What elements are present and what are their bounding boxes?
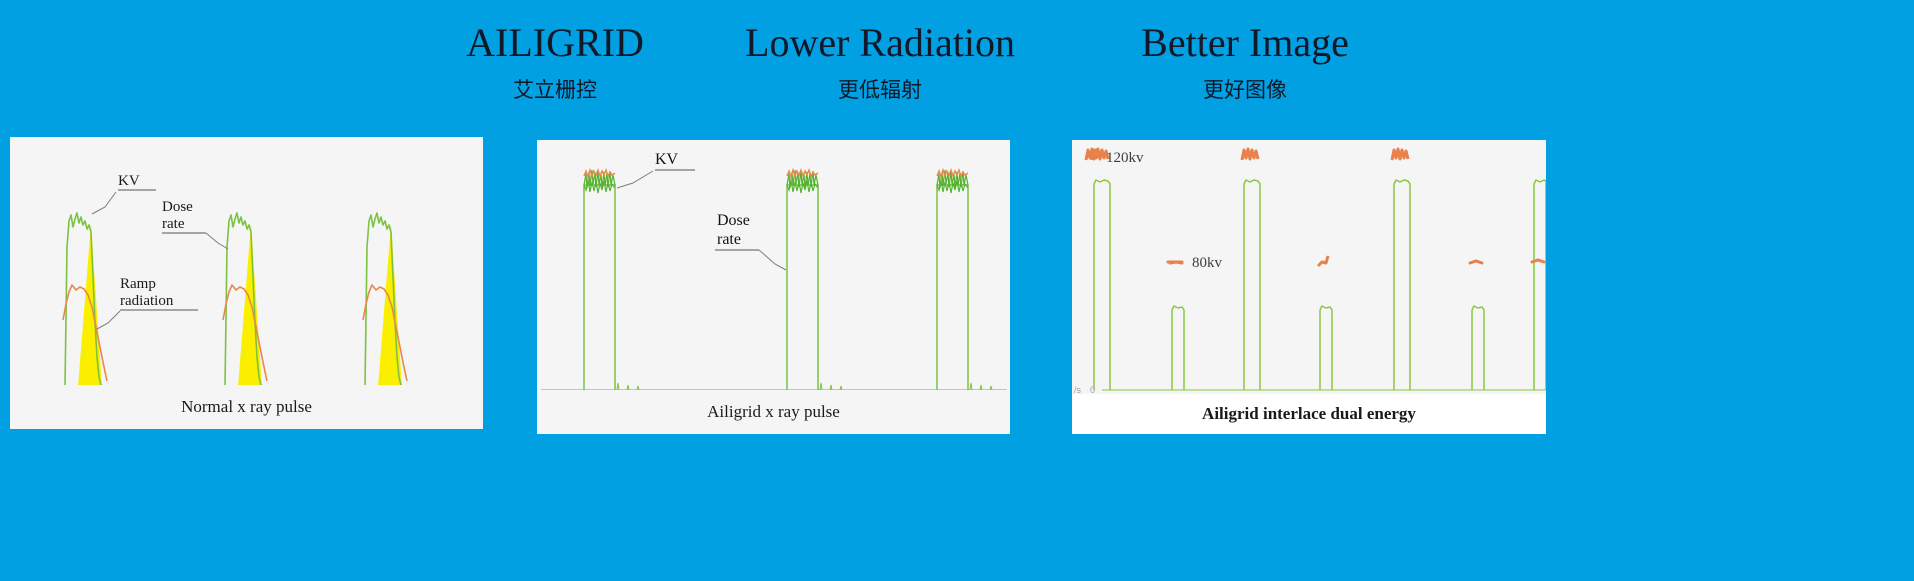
annotation-ramp-line2: radiation: [120, 293, 174, 309]
header-title-cn-1: 更低辐射: [640, 74, 1120, 108]
kv-marker-120-2: [1242, 149, 1258, 160]
annotation-kv-label: KV: [118, 173, 140, 189]
header-title-en-2: Better Image: [1050, 22, 1440, 64]
annotation-ramp-radiation: Ramp radiation: [97, 276, 198, 329]
annotation-kv-label: KV: [655, 151, 679, 168]
chart-panel-dual-energy: 120kv 80kv /s 0 Ailigrid interlace dual …: [1072, 140, 1546, 434]
kv-marker-120-3: [1392, 149, 1408, 160]
panel-caption-ailigrid: Ailigrid x ray pulse: [537, 390, 1010, 434]
header-column-better-image: Better Image 更好图像: [1050, 22, 1440, 108]
header-column-lower-radiation: Lower Radiation 更低辐射: [640, 22, 1120, 108]
chart-panel-ailigrid-x-ray-pulse: KV Dose rate Ailigrid x ray pulse: [537, 140, 1010, 434]
legend-120kv: 120kv: [1086, 149, 1144, 166]
chart-panel-normal-x-ray-pulse: KV Dose rate Ramp radiation Normal x ray…: [10, 137, 483, 429]
header-banner: AILIGRID 艾立栅控 Lower Radiation 更低辐射 Bette…: [0, 22, 1914, 122]
annotation-dose-rate-line1: Dose: [162, 199, 193, 215]
legend-120kv-label: 120kv: [1106, 150, 1144, 166]
annotation-dose-rate-line2: rate: [717, 231, 741, 248]
kv-marker-80-4: [1532, 260, 1544, 262]
annotation-dose-rate-line2: rate: [162, 216, 185, 232]
annotation-dose-rate-line1: Dose: [717, 212, 750, 229]
panel-caption-normal: Normal x ray pulse: [10, 385, 483, 429]
kv-marker-80-3: [1470, 261, 1482, 263]
header-title-cn-2: 更好图像: [1050, 74, 1440, 108]
annotation-kv: KV: [92, 173, 156, 214]
annotation-dose-rate: Dose rate: [715, 212, 786, 270]
kv-marker-80-2: [1318, 256, 1328, 266]
legend-80kv: 80kv: [1168, 255, 1223, 271]
plot-area-dual-energy: 120kv 80kv /s 0: [1072, 140, 1546, 434]
annotation-kv: KV: [617, 151, 695, 188]
panel-caption-dual-energy: Ailigrid interlace dual energy: [1072, 394, 1546, 434]
annotation-dose-rate: Dose rate: [162, 199, 228, 249]
legend-80kv-label: 80kv: [1192, 255, 1223, 271]
header-title-en-1: Lower Radiation: [640, 22, 1120, 64]
annotation-ramp-line1: Ramp: [120, 276, 156, 292]
